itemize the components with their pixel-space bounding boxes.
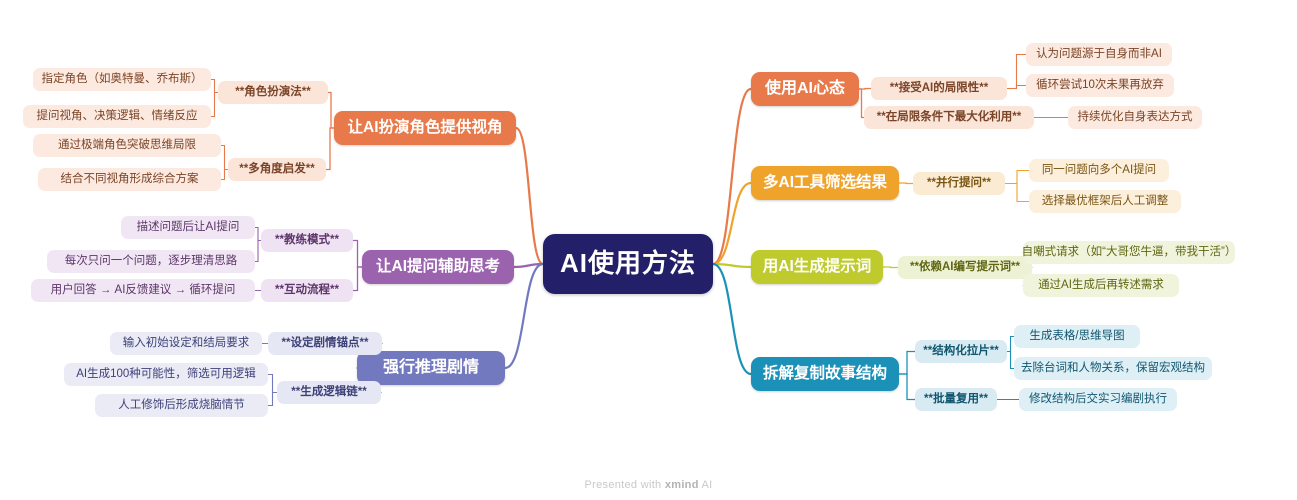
topic-ask-questions-label: 让AI提问辅助思考	[376, 258, 500, 276]
topic-mindset[interactable]: 使用AI心态	[751, 72, 859, 106]
subtopic-plot-reasoning-0[interactable]: **设定剧情锚点**	[268, 332, 382, 355]
subtopic-role-play-0[interactable]: **角色扮演法**	[218, 81, 328, 104]
topic-ask-questions[interactable]: 让AI提问辅助思考	[362, 250, 514, 284]
leaf-plot-reasoning-1-1-label: 人工修饰后形成烧脑情节	[118, 399, 245, 412]
leaf-multi-ai-0-0-label: 同一问题向多个AI提问	[1042, 164, 1156, 177]
topic-role-play[interactable]: 让AI扮演角色提供视角	[334, 111, 516, 145]
leaf-role-play-0-1[interactable]: 提问视角、决策逻辑、情绪反应	[23, 105, 211, 128]
leaf-mindset-1-0[interactable]: 持续优化自身表达方式	[1068, 106, 1202, 129]
subtopic-story-structure-0[interactable]: **结构化拉片**	[915, 340, 1007, 363]
subtopic-mindset-1[interactable]: **在局限条件下最大化利用**	[864, 106, 1034, 129]
subtopic-plot-reasoning-1[interactable]: **生成逻辑链**	[277, 381, 381, 404]
subtopic-plot-reasoning-0-label: **设定剧情锚点**	[282, 337, 369, 350]
subtopic-prompt-gen-0[interactable]: **依赖AI编写提示词**	[898, 256, 1032, 279]
leaf-ask-questions-1-0-label: 用户回答 → AI反馈建议 → 循环提问	[51, 284, 236, 297]
subtopic-plot-reasoning-1-label: **生成逻辑链**	[291, 386, 366, 399]
subtopic-multi-ai-0-label: **并行提问**	[927, 177, 991, 190]
leaf-role-play-1-1[interactable]: 结合不同视角形成综合方案	[38, 168, 221, 191]
subtopic-ask-questions-0-label: **教练模式**	[275, 234, 339, 247]
leaf-ask-questions-1-0[interactable]: 用户回答 → AI反馈建议 → 循环提问	[31, 279, 255, 302]
leaf-prompt-gen-0-0-label: 自嘲式请求（如“大哥您牛逼，带我干活”）	[1022, 246, 1237, 259]
subtopic-story-structure-1[interactable]: **批量复用**	[915, 388, 997, 411]
leaf-ask-questions-0-1-label: 每次只问一个问题，逐步理清思路	[65, 255, 238, 268]
subtopic-prompt-gen-0-label: **依赖AI编写提示词**	[910, 261, 1020, 274]
leaf-mindset-0-0[interactable]: 认为问题源于自身而非AI	[1026, 43, 1172, 66]
subtopic-multi-ai-0[interactable]: **并行提问**	[913, 172, 1005, 195]
leaf-plot-reasoning-0-0[interactable]: 输入初始设定和结局要求	[110, 332, 262, 355]
leaf-prompt-gen-0-1-label: 通过AI生成后再转述需求	[1038, 279, 1164, 292]
leaf-multi-ai-0-1-label: 选择最优框架后人工调整	[1042, 195, 1169, 208]
leaf-ask-questions-0-1[interactable]: 每次只问一个问题，逐步理清思路	[47, 250, 255, 273]
subtopic-ask-questions-0[interactable]: **教练模式**	[261, 229, 353, 252]
leaf-story-structure-1-0-label: 修改结构后交实习编剧执行	[1029, 393, 1167, 406]
footer-prefix: Presented with	[585, 479, 665, 491]
subtopic-mindset-0-label: **接受AI的局限性**	[890, 82, 988, 95]
leaf-plot-reasoning-1-1[interactable]: 人工修饰后形成烧脑情节	[95, 394, 268, 417]
subtopic-role-play-1-label: **多角度启发**	[239, 163, 314, 176]
leaf-prompt-gen-0-0[interactable]: 自嘲式请求（如“大哥您牛逼，带我干活”）	[1023, 241, 1235, 264]
root-node[interactable]: AI使用方法	[543, 234, 713, 294]
footer-credit: Presented with xmind AI	[0, 479, 1297, 491]
leaf-story-structure-1-0[interactable]: 修改结构后交实习编剧执行	[1019, 388, 1177, 411]
leaf-story-structure-0-0-label: 生成表格/思维导图	[1029, 330, 1124, 343]
leaf-story-structure-0-0[interactable]: 生成表格/思维导图	[1014, 325, 1140, 348]
subtopic-ask-questions-1-label: **互动流程**	[275, 284, 339, 297]
subtopic-story-structure-1-label: **批量复用**	[924, 393, 988, 406]
leaf-mindset-1-0-label: 持续优化自身表达方式	[1078, 111, 1193, 124]
leaf-ask-questions-0-0[interactable]: 描述问题后让AI提问	[121, 216, 255, 239]
topic-story-structure-label: 拆解复制故事结构	[763, 365, 887, 383]
leaf-role-play-0-0[interactable]: 指定角色（如奥特曼、乔布斯）	[33, 68, 211, 91]
leaf-role-play-1-0-label: 通过极端角色突破思维局限	[58, 139, 196, 152]
topic-mindset-label: 使用AI心态	[765, 80, 845, 98]
leaf-ask-questions-0-0-label: 描述问题后让AI提问	[137, 221, 240, 234]
leaf-story-structure-0-1[interactable]: 去除台词和人物关系，保留宏观结构	[1014, 357, 1212, 380]
leaf-plot-reasoning-0-0-label: 输入初始设定和结局要求	[123, 337, 250, 350]
leaf-plot-reasoning-1-0-label: AI生成100种可能性，筛选可用逻辑	[76, 368, 256, 381]
leaf-mindset-0-1-label: 循环尝试10次未果再放弃	[1036, 79, 1164, 92]
topic-multi-ai[interactable]: 多AI工具筛选结果	[751, 166, 899, 200]
leaf-mindset-0-0-label: 认为问题源于自身而非AI	[1036, 48, 1162, 61]
leaf-multi-ai-0-1[interactable]: 选择最优框架后人工调整	[1029, 190, 1181, 213]
footer-suffix: AI	[699, 479, 713, 491]
leaf-prompt-gen-0-1[interactable]: 通过AI生成后再转述需求	[1023, 274, 1179, 297]
topic-multi-ai-label: 多AI工具筛选结果	[763, 174, 887, 192]
leaf-role-play-1-0[interactable]: 通过极端角色突破思维局限	[33, 134, 221, 157]
leaf-role-play-0-0-label: 指定角色（如奥特曼、乔布斯）	[42, 73, 203, 86]
mindmap-canvas: AI使用方法 让AI扮演角色提供视角**角色扮演法**指定角色（如奥特曼、乔布斯…	[0, 0, 1297, 500]
leaf-role-play-1-1-label: 结合不同视角形成综合方案	[61, 173, 199, 186]
topic-prompt-gen-label: 用AI生成提示词	[763, 258, 872, 276]
leaf-role-play-0-1-label: 提问视角、决策逻辑、情绪反应	[37, 110, 198, 123]
leaf-story-structure-0-1-label: 去除台词和人物关系，保留宏观结构	[1021, 362, 1205, 375]
subtopic-mindset-1-label: **在局限条件下最大化利用**	[877, 111, 1021, 124]
topic-plot-reasoning-label: 强行推理剧情	[383, 359, 479, 377]
topic-plot-reasoning[interactable]: 强行推理剧情	[357, 351, 505, 385]
leaf-plot-reasoning-1-0[interactable]: AI生成100种可能性，筛选可用逻辑	[64, 363, 268, 386]
leaf-multi-ai-0-0[interactable]: 同一问题向多个AI提问	[1029, 159, 1169, 182]
topic-story-structure[interactable]: 拆解复制故事结构	[751, 357, 899, 391]
footer-brand: xmind	[665, 479, 699, 491]
subtopic-mindset-0[interactable]: **接受AI的局限性**	[871, 77, 1007, 100]
subtopic-story-structure-0-label: **结构化拉片**	[923, 345, 998, 358]
subtopic-role-play-0-label: **角色扮演法**	[235, 86, 310, 99]
topic-role-play-label: 让AI扮演角色提供视角	[348, 119, 503, 137]
subtopic-ask-questions-1[interactable]: **互动流程**	[261, 279, 353, 302]
leaf-mindset-0-1[interactable]: 循环尝试10次未果再放弃	[1026, 74, 1174, 97]
subtopic-role-play-1[interactable]: **多角度启发**	[228, 158, 326, 181]
topic-prompt-gen[interactable]: 用AI生成提示词	[751, 250, 883, 284]
